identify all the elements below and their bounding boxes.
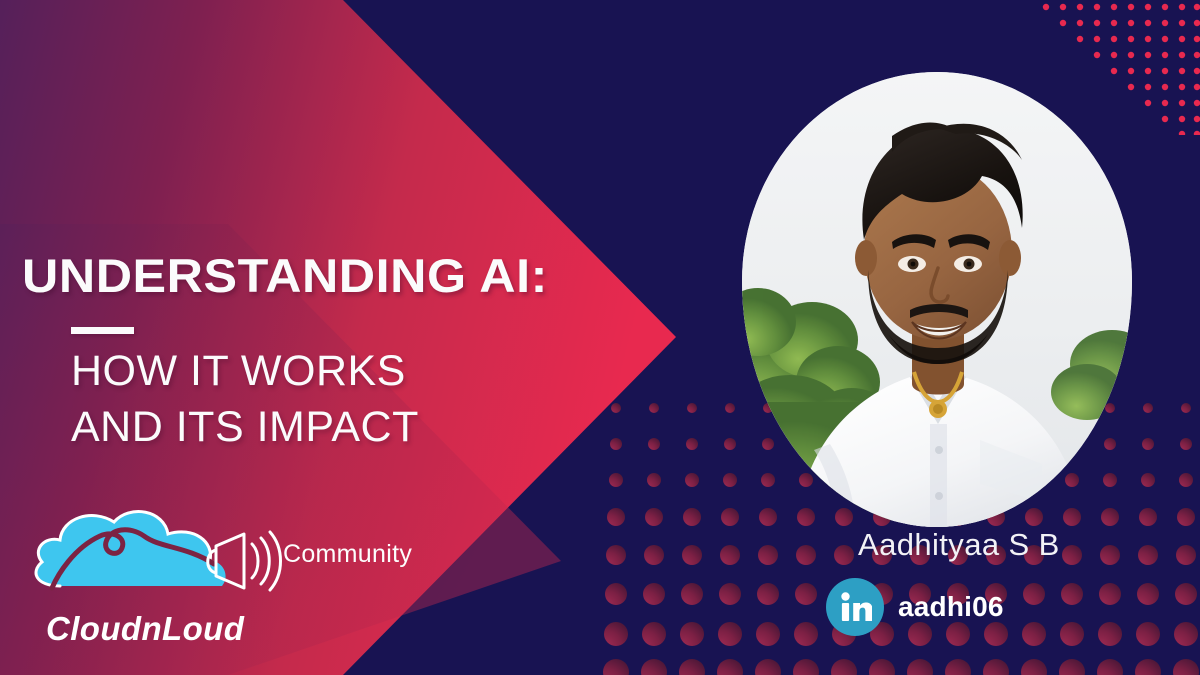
title-divider — [71, 327, 134, 334]
brand-logo: Community CloudnLoud — [18, 500, 438, 665]
portrait-frame — [742, 72, 1132, 527]
linkedin-icon[interactable] — [826, 578, 884, 636]
speaker-name: Aadhityaa S B — [858, 527, 1060, 563]
brand-name: CloudnLoud — [46, 610, 244, 648]
slide-canvas: UNDERSTANDING AI: HOW IT WORKS AND ITS I… — [0, 0, 1200, 675]
brand-tagline: Community — [283, 540, 412, 569]
cloud-megaphone-icon — [18, 500, 288, 610]
subtitle-line-1: HOW IT WORKS — [71, 344, 622, 400]
social-handle[interactable]: aadhi06 — [898, 591, 1004, 623]
page-title: UNDERSTANDING AI: — [22, 252, 664, 299]
subtitle-line-2: AND ITS IMPACT — [71, 400, 622, 456]
speaker-social-row[interactable]: aadhi06 — [826, 578, 1004, 636]
speaker-photo — [742, 72, 1132, 527]
headline-block: UNDERSTANDING AI: HOW IT WORKS AND ITS I… — [22, 252, 622, 456]
